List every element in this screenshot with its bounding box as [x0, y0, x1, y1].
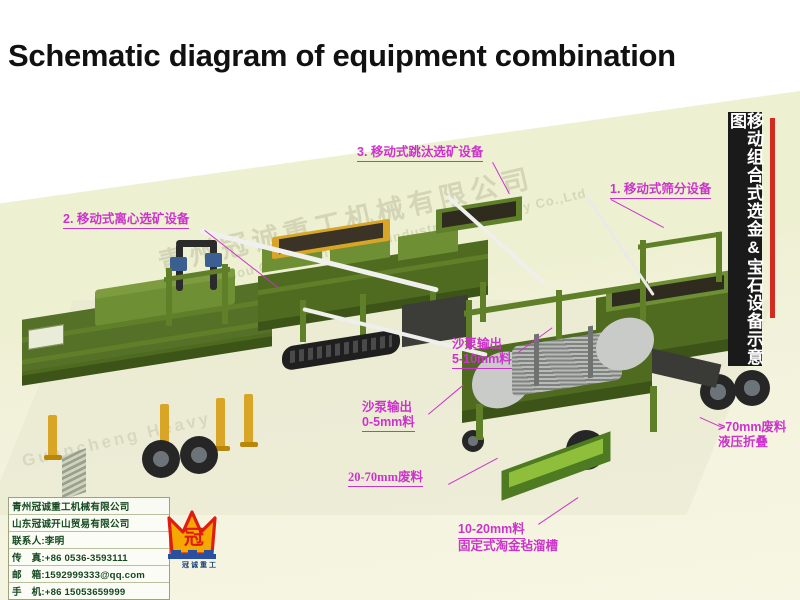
contact-person: 联系人:李明: [9, 532, 169, 549]
contact-info-box: 青州冠诚重工机械有限公司 山东冠诚开山贸易有限公司 联系人:李明 传 真:+86…: [8, 497, 170, 600]
flow-label-sand-pump-5-10: 沙泵输出 5-10mm料: [452, 337, 512, 369]
contact-company-1: 青州冠诚重工机械有限公司: [9, 498, 169, 515]
diagram-canvas: 青州冠诚重工机械有限公司 Qingzhou Guancheng Heavy In…: [0, 0, 800, 600]
company-logo: 冠 冠诚重工: [166, 508, 234, 574]
vertical-banner: 移动组合式选金&宝石设备示意图: [728, 112, 762, 366]
equipment-label-3: 3. 移动式跳汰选矿设备: [357, 145, 483, 162]
svg-text:冠: 冠: [184, 527, 204, 549]
flow-label-sand-pump-0-5: 沙泵输出 0-5mm料: [362, 400, 415, 432]
contact-fax: 传 真:+86 0536-3593111: [9, 549, 169, 566]
logo-subtitle: 冠诚重工: [166, 560, 234, 570]
page-title: Schematic diagram of equipment combinati…: [8, 38, 676, 74]
crown-icon: 冠: [166, 508, 234, 562]
flow-label-over-70: >70mm废料 液压折叠: [718, 420, 786, 450]
flow-label-10-20: 10-20mm料 固定式淘金毡溜槽: [458, 522, 558, 554]
contact-email: 邮 箱:1592999333@qq.com: [9, 566, 169, 583]
accent-bar-red: [770, 118, 775, 318]
flow-label-20-70: 20-70mm废料: [348, 470, 423, 487]
equipment-label-2: 2. 移动式离心选矿设备: [63, 212, 189, 229]
equipment-label-1: 1. 移动式筛分设备: [610, 182, 711, 199]
contact-mobile: 手 机:+86 15053659999: [9, 583, 169, 599]
contact-company-2: 山东冠诚开山贸易有限公司: [9, 515, 169, 532]
